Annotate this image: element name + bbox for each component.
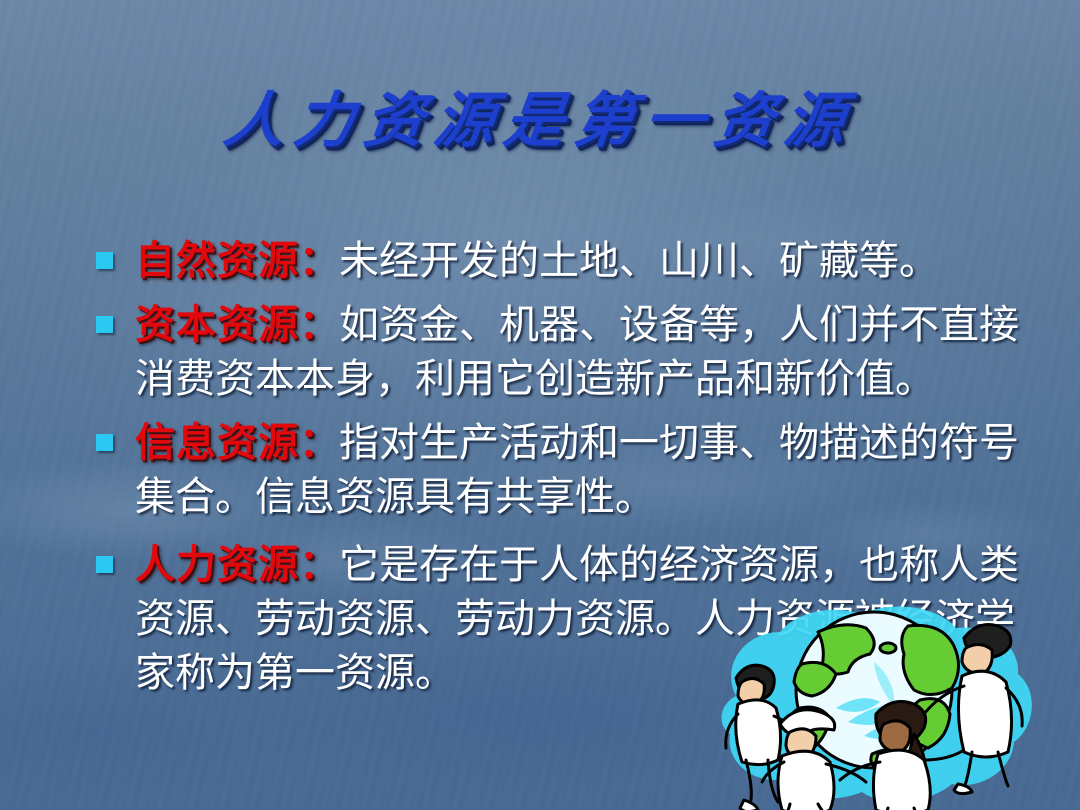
list-item[interactable]: 资本资源：如资金、机器、设备等，人们并不直接消费资本本身，利用它创造新产品和新价… — [96, 298, 1046, 406]
landmass-island — [880, 643, 896, 653]
face — [962, 644, 992, 674]
list-item-text: 自然资源：未经开发的土地、山川、矿藏等。 — [135, 234, 1046, 288]
term-description: 未经开发的土地、山川、矿藏等。 — [339, 238, 939, 284]
square-bullet-icon — [96, 252, 113, 269]
list-item-text: 资本资源：如资金、机器、设备等，人们并不直接消费资本本身，利用它创造新产品和新价… — [135, 298, 1046, 406]
list-item[interactable]: 自然资源：未经开发的土地、山川、矿藏等。 — [96, 234, 1046, 288]
square-bullet-icon — [96, 434, 113, 451]
square-bullet-icon — [96, 316, 113, 333]
term-label: 人力资源 — [135, 542, 299, 588]
term-colon: ： — [299, 302, 339, 348]
face — [880, 721, 910, 752]
page-title: 人力资源是第一资源 — [220, 72, 861, 159]
torso — [873, 750, 930, 810]
foot-left — [740, 800, 758, 810]
term-colon: ： — [299, 420, 339, 466]
slide-canvas: 人力资源是第一资源 自然资源：未经开发的土地、山川、矿藏等。 资本资源：如资金、… — [0, 0, 1080, 810]
torso — [778, 751, 834, 810]
slide-title-area: 人力资源是第一资源 — [0, 72, 1080, 159]
torso — [736, 700, 781, 765]
term-colon: ： — [299, 542, 339, 588]
term-colon: ： — [299, 238, 339, 284]
foot-left — [954, 784, 972, 794]
square-bullet-icon — [96, 556, 113, 573]
list-item-text: 信息资源：指对生产活动和一切事、物描述的符号集合。信息资源具有共享性。 — [135, 416, 1046, 524]
term-label: 信息资源 — [135, 420, 299, 466]
term-label: 自然资源 — [135, 238, 299, 284]
term-label: 资本资源 — [135, 302, 299, 348]
torso — [958, 671, 1011, 757]
list-item[interactable]: 信息资源：指对生产活动和一切事、物描述的符号集合。信息资源具有共享性。 — [96, 416, 1046, 524]
globe-people-illustration — [676, 604, 1080, 810]
